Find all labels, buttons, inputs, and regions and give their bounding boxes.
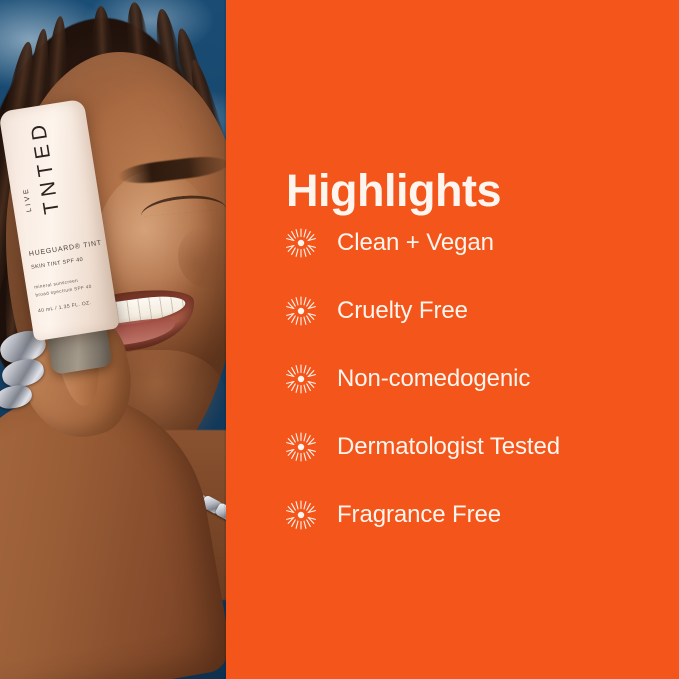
product-hero-photo: TNTED LIVE HUEGUARD® TINT SKIN TINT SPF … [0,0,226,679]
tube-volume-line: 40 mL / 1.35 FL. OZ. [38,300,92,314]
highlights-list: Clean + Vegan [286,226,666,532]
list-item: Non-comedogenic [286,362,666,396]
list-item-label: Clean + Vegan [337,228,494,258]
list-item-label: Non-comedogenic [337,364,530,394]
list-item: Cruelty Free [286,294,666,328]
tube-product-line: HUEGUARD® TINT [28,240,102,258]
list-item: Fragrance Free [286,498,666,532]
tube-brand-sub: LIVE [22,186,33,212]
sunburst-icon [286,500,316,530]
sunburst-icon [286,296,316,326]
tube-spf-line: SKIN TINT SPF 40 [31,257,84,271]
list-item: Dermatologist Tested [286,430,666,464]
product-highlights-card: TNTED LIVE HUEGUARD® TINT SKIN TINT SPF … [0,0,679,679]
sunburst-icon [286,432,316,462]
sunburst-icon [286,228,316,258]
tube-brand-name: TNTED [26,118,65,216]
page-title: Highlights [286,168,501,213]
list-item-label: Dermatologist Tested [337,432,560,462]
list-item: Clean + Vegan [286,226,666,260]
list-item-label: Fragrance Free [337,500,501,530]
highlights-panel: Highlights [226,0,679,679]
list-item-label: Cruelty Free [337,296,468,326]
sunburst-icon [286,364,316,394]
